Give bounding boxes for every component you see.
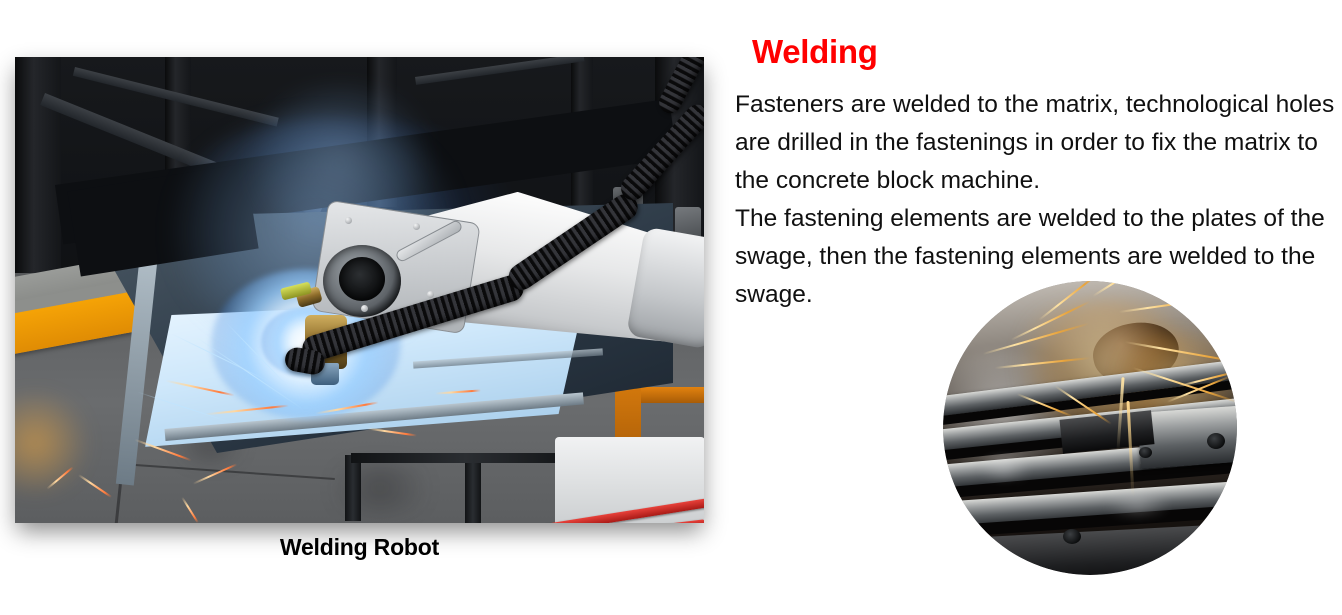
drilled-hole	[1207, 433, 1225, 449]
robot-arm-screw	[361, 305, 368, 312]
robot-arm-screw	[413, 223, 420, 230]
table-leg	[465, 461, 481, 523]
drilled-hole	[1063, 529, 1081, 544]
floor-seam	[135, 464, 335, 480]
orange-machine-frame	[641, 387, 704, 403]
robot-arm-screw	[345, 217, 352, 224]
floor-stain	[315, 463, 445, 513]
table-leg	[345, 455, 361, 521]
edge-glint	[969, 457, 1039, 479]
welding-robot-figure	[15, 57, 704, 523]
body-text: Fasteners are welded to the matrix, tech…	[735, 86, 1335, 314]
table-brace	[351, 453, 581, 463]
edge-glint	[1093, 495, 1183, 515]
paragraph-1: Fasteners are welded to the matrix, tech…	[735, 86, 1335, 200]
drilled-hole	[1139, 447, 1152, 458]
sparks-on-metal-plates-photo	[943, 281, 1237, 575]
figure-caption: Welding Robot	[15, 534, 704, 561]
robot-arm-tool-bore	[339, 257, 385, 301]
robot-arm-screw	[427, 291, 434, 298]
welding-robot-photo	[15, 57, 704, 523]
section-title: Welding	[752, 33, 878, 71]
